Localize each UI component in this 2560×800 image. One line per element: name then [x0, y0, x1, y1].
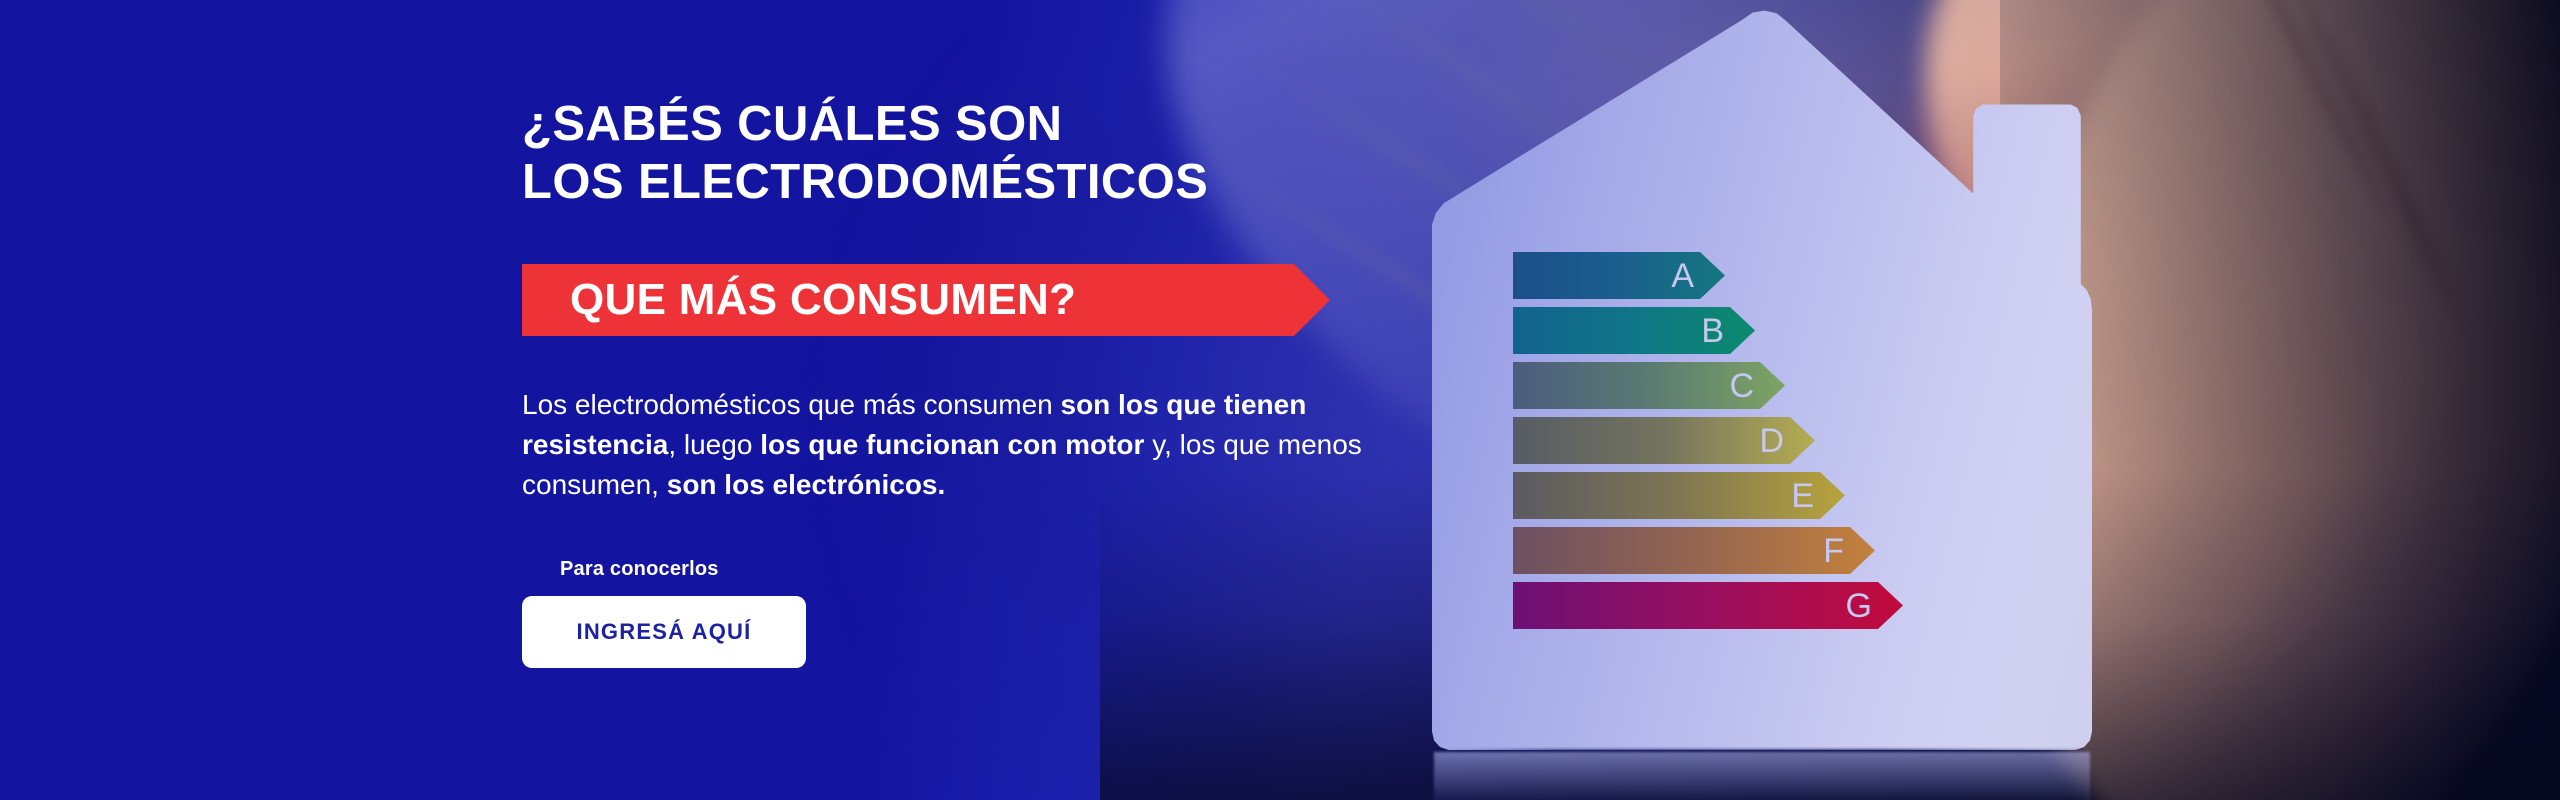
energy-bar-b: B: [1513, 307, 1755, 354]
page-title: ¿SABÉS CUÁLES SON LOS ELECTRODOMÉSTICOS: [522, 96, 1208, 212]
energy-bar-letter: E: [1791, 479, 1845, 513]
energy-bar-letter: B: [1701, 314, 1755, 348]
description-part: , luego: [668, 429, 760, 460]
energy-bar-f: F: [1513, 527, 1875, 574]
highlight-ribbon: QUE MÁS CONSUMEN?: [522, 264, 1330, 336]
description-text: Los electrodomésticos que más consumen s…: [522, 385, 1422, 504]
energy-bar-letter: C: [1729, 369, 1785, 403]
energy-bar-row: C: [1513, 362, 1933, 409]
energy-bar-letter: A: [1671, 259, 1725, 293]
energy-rating-scale: A B C D E F G: [1513, 252, 1933, 637]
energy-bar-row: E: [1513, 472, 1933, 519]
energy-bar-e: E: [1513, 472, 1845, 519]
energy-bar-row: G: [1513, 582, 1933, 629]
ingresa-aqui-button[interactable]: INGRESÁ AQUÍ: [522, 596, 806, 668]
energy-bar-row: B: [1513, 307, 1933, 354]
energy-bar-row: F: [1513, 527, 1933, 574]
energy-bar-g: G: [1513, 582, 1903, 629]
description-bold: son los electrónicos.: [667, 469, 946, 500]
energy-bar-d: D: [1513, 417, 1815, 464]
energy-bar-row: A: [1513, 252, 1933, 299]
description-bold: los que funcionan con motor: [760, 429, 1144, 460]
energy-bar-letter: F: [1823, 534, 1875, 568]
energy-bar-row: D: [1513, 417, 1933, 464]
house-reflection: [1434, 752, 2090, 800]
energy-bar-letter: D: [1759, 424, 1815, 458]
energy-bar-letter: G: [1846, 589, 1903, 623]
cta-prelabel: Para conocerlos: [560, 558, 719, 581]
energy-bar-a: A: [1513, 252, 1725, 299]
energy-efficiency-banner: A B C D E F G ¿SABÉS CUÁLES SON LOS ELEC…: [0, 0, 2560, 800]
energy-bar-c: C: [1513, 362, 1785, 409]
ribbon-label: QUE MÁS CONSUMEN?: [522, 278, 1076, 322]
content-column: ¿SABÉS CUÁLES SON LOS ELECTRODOMÉSTICOS …: [522, 0, 1422, 800]
description-part: Los electrodomésticos que más consumen: [522, 389, 1061, 420]
